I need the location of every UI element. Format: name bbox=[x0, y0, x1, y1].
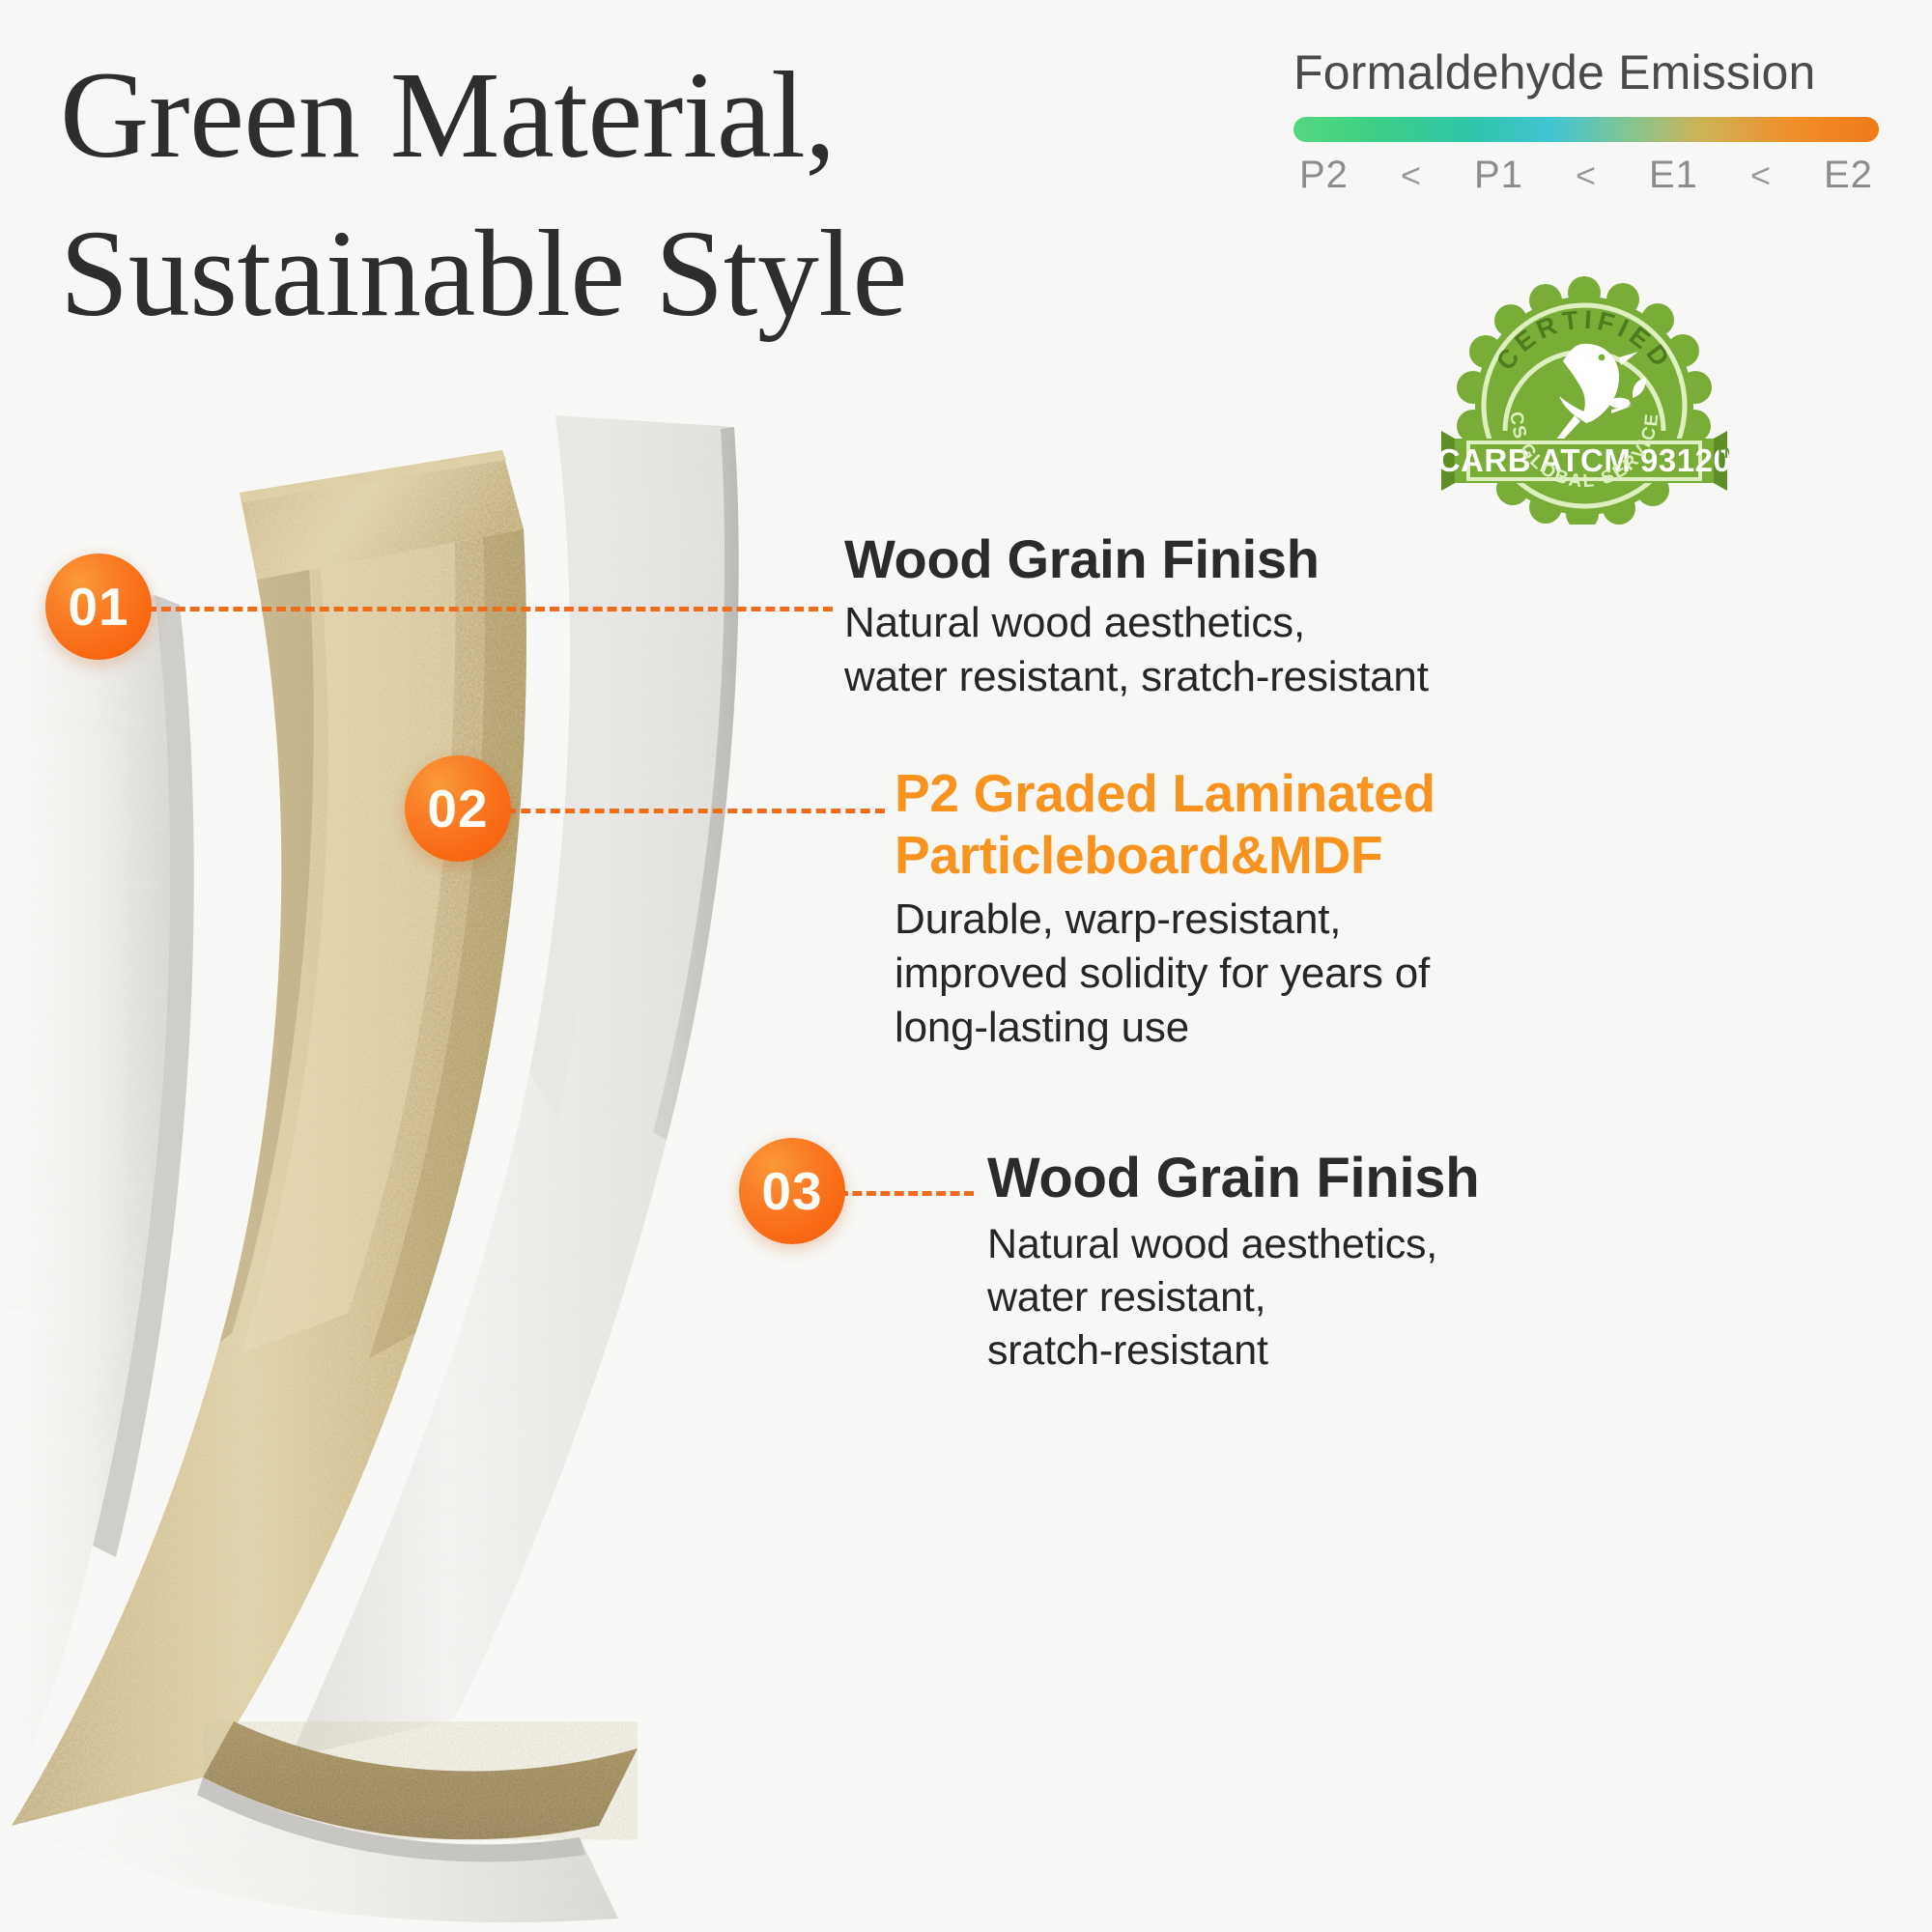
callout-badge-02-label: 02 bbox=[427, 782, 488, 836]
callout-badge-03-label: 03 bbox=[761, 1165, 822, 1218]
callout-01-body: Natural wood aesthetics, water resistant… bbox=[844, 596, 1907, 705]
callout-02-body: Durable, warp-resistant, improved solidi… bbox=[895, 893, 1918, 1056]
page-title-line-1: Green Material, bbox=[60, 37, 1084, 195]
callout-02-heading: P2 Graded Laminated Particleboard&MDF bbox=[895, 763, 1918, 887]
badge-trademark-text: TM bbox=[1716, 445, 1729, 462]
callout-03-body-line-3: sratch-resistant bbox=[987, 1324, 1915, 1378]
connector-line-02 bbox=[506, 809, 885, 813]
callout-block-02: P2 Graded Laminated Particleboard&MDF Du… bbox=[895, 763, 1918, 1056]
callout-03-heading: Wood Grain Finish bbox=[987, 1148, 1915, 1210]
infographic-canvas: Green Material, Sustainable Style Formal… bbox=[0, 0, 1932, 1932]
less-than-icon-1: < bbox=[1401, 156, 1422, 196]
callout-01-body-line-2: water resistant, sratch-resistant bbox=[844, 650, 1907, 704]
callout-03-body: Natural wood aesthetics, water resistant… bbox=[987, 1218, 1915, 1378]
emission-scale-title: Formaldehyde Emission bbox=[1293, 46, 1879, 99]
callout-01-body-line-1: Natural wood aesthetics, bbox=[844, 596, 1907, 650]
emission-label-e1: E1 bbox=[1649, 154, 1698, 197]
emission-scale-labels: P2 < P1 < E1 < E2 bbox=[1293, 154, 1879, 197]
callout-block-03: Wood Grain Finish Natural wood aesthetic… bbox=[987, 1148, 1915, 1378]
formaldehyde-emission-scale: Formaldehyde Emission P2 < P1 < E1 < E2 bbox=[1293, 46, 1879, 197]
callout-02-heading-line-1: P2 Graded Laminated bbox=[895, 763, 1435, 823]
callout-badge-02[interactable]: 02 bbox=[405, 755, 511, 862]
callout-02-heading-line-2: Particleboard&MDF bbox=[895, 825, 1382, 885]
connector-line-01 bbox=[147, 607, 833, 611]
callout-01-heading: Wood Grain Finish bbox=[844, 529, 1907, 590]
callout-badge-01-label: 01 bbox=[68, 581, 128, 634]
emission-label-p1: P1 bbox=[1474, 154, 1523, 197]
less-than-icon-2: < bbox=[1576, 156, 1597, 196]
callout-badge-03[interactable]: 03 bbox=[739, 1138, 845, 1244]
less-than-icon-3: < bbox=[1750, 156, 1772, 196]
callout-03-body-line-2: water resistant, bbox=[987, 1271, 1915, 1324]
emission-label-e2: E2 bbox=[1824, 154, 1873, 197]
carb-certification-badge: CERTIFIED CARB ATCM 93120 TM bbox=[1439, 269, 1729, 525]
callout-02-body-line-2: improved solidity for years of bbox=[895, 947, 1918, 1001]
callout-02-body-line-1: Durable, warp-resistant, bbox=[895, 893, 1918, 947]
connector-line-03 bbox=[838, 1191, 974, 1196]
callout-02-body-line-3: long-lasting use bbox=[895, 1001, 1918, 1055]
emission-label-p2: P2 bbox=[1299, 154, 1349, 197]
callout-03-body-line-1: Natural wood aesthetics, bbox=[987, 1218, 1915, 1271]
page-title-line-2: Sustainable Style bbox=[60, 195, 1084, 354]
callout-block-01: Wood Grain Finish Natural wood aesthetic… bbox=[844, 529, 1907, 704]
callout-badge-01[interactable]: 01 bbox=[45, 554, 152, 660]
page-title: Green Material, Sustainable Style bbox=[60, 37, 1084, 354]
emission-gradient-bar bbox=[1293, 117, 1879, 142]
